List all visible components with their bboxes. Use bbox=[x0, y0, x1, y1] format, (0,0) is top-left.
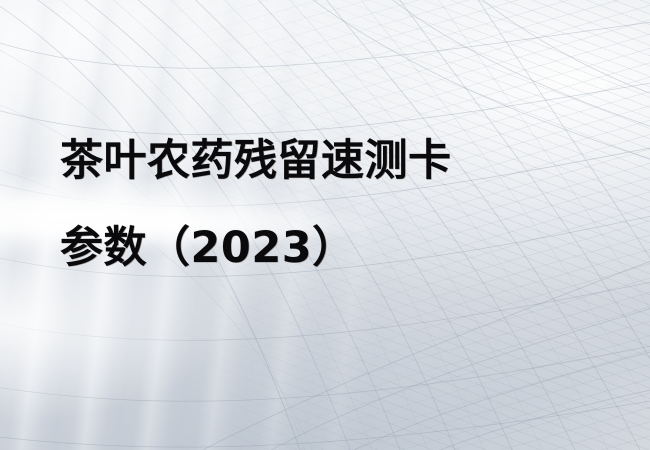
title-banner: 茶叶农药残留速测卡 参数（2023） bbox=[0, 0, 650, 450]
title-line-primary: 茶叶农药残留速测卡 bbox=[60, 140, 580, 183]
page-title: 茶叶农药残留速测卡 参数（2023） bbox=[60, 140, 580, 270]
title-line-secondary: 参数（2023） bbox=[60, 227, 580, 270]
